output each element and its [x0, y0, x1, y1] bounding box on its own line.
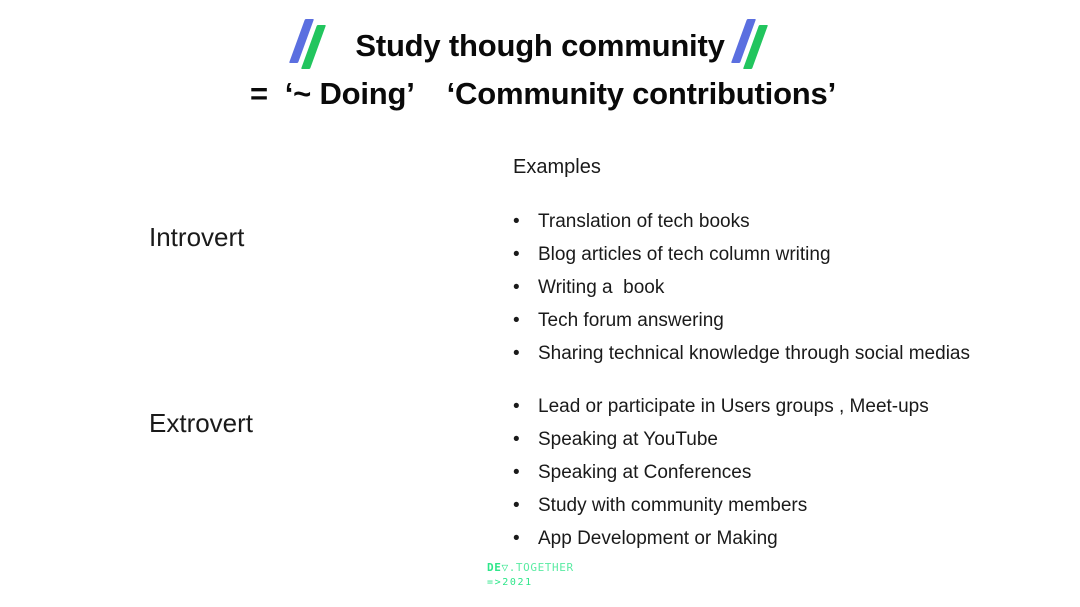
list-item: • Translation of tech books: [513, 211, 970, 244]
bullet-list-extrovert: • Lead or participate in Users groups , …: [513, 396, 929, 561]
footer-brand-logo: DE▽.TOGETHER =>2021: [487, 561, 574, 589]
list-item: • Writing a book: [513, 277, 970, 310]
list-item: • Blog articles of tech column writing: [513, 244, 970, 277]
title-subtitle-equation: = ‘~ Doing’ ‘Community contributions’: [0, 76, 1080, 112]
brand-dot: .: [509, 561, 516, 574]
bullet-icon: •: [513, 397, 538, 416]
bullet-icon: •: [513, 278, 538, 297]
slide-canvas: Study though community = ‘~ Doing’ ‘Comm…: [0, 0, 1080, 607]
bullet-icon: •: [513, 212, 538, 231]
list-item: • Speaking at Conferences: [513, 462, 929, 495]
list-item: • Speaking at YouTube: [513, 429, 929, 462]
list-item-label: Writing a book: [538, 277, 664, 299]
title-main-text: Study though community: [355, 28, 724, 64]
double-slash-icon-left: [297, 23, 341, 69]
list-item: • Sharing technical knowledge through so…: [513, 343, 970, 376]
row-label-introvert: Introvert: [149, 222, 244, 253]
brand-year: =>2021: [487, 576, 574, 589]
list-item-label: App Development or Making: [538, 528, 778, 550]
list-item-label: Blog articles of tech column writing: [538, 244, 831, 266]
brand-wordmark: DE▽.TOGETHER: [487, 561, 574, 574]
examples-column-heading: Examples: [513, 156, 601, 179]
bullet-icon: •: [513, 311, 538, 330]
triangle-down-icon: ▽: [501, 561, 508, 574]
list-item-label: Speaking at Conferences: [538, 462, 751, 484]
list-item-label: Translation of tech books: [538, 211, 750, 233]
list-item: • Tech forum answering: [513, 310, 970, 343]
brand-prefix: DE: [487, 561, 501, 574]
list-item-label: Study with community members: [538, 495, 807, 517]
bullet-icon: •: [513, 463, 538, 482]
row-label-extrovert: Extrovert: [149, 408, 253, 439]
list-item-label: Lead or participate in Users groups , Me…: [538, 396, 929, 418]
bullet-icon: •: [513, 529, 538, 548]
bullet-list-introvert: • Translation of tech books • Blog artic…: [513, 211, 970, 376]
bullet-icon: •: [513, 344, 538, 363]
list-item-label: Tech forum answering: [538, 310, 724, 332]
bullet-icon: •: [513, 245, 538, 264]
bullet-icon: •: [513, 430, 538, 449]
list-item: • App Development or Making: [513, 528, 929, 561]
list-item: • Lead or participate in Users groups , …: [513, 396, 929, 429]
double-slash-icon-right: [739, 23, 783, 69]
brand-suffix: TOGETHER: [516, 561, 574, 574]
title-block: Study though community = ‘~ Doing’ ‘Comm…: [0, 22, 1080, 112]
title-line-1: Study though community: [0, 22, 1080, 70]
bullet-icon: •: [513, 496, 538, 515]
list-item-label: Speaking at YouTube: [538, 429, 718, 451]
list-item-label: Sharing technical knowledge through soci…: [538, 343, 970, 365]
list-item: • Study with community members: [513, 495, 929, 528]
